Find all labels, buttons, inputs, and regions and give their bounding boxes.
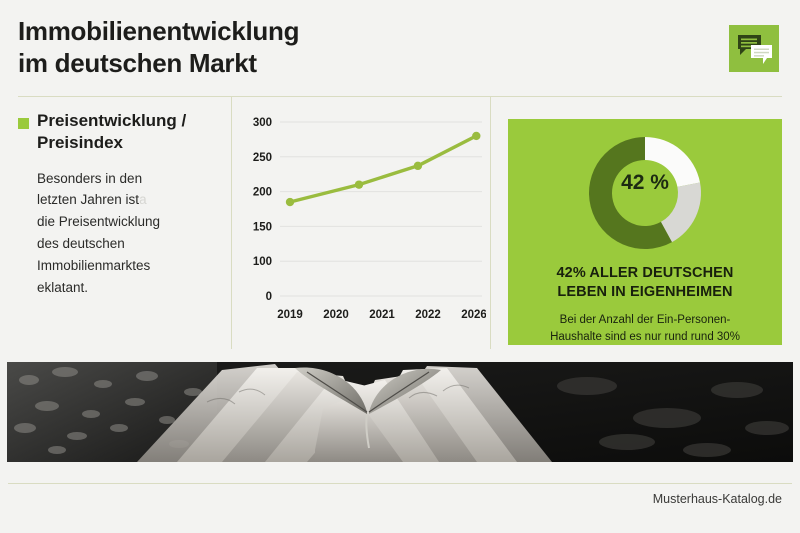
- chart-x-tick: 2020: [323, 309, 349, 321]
- section-heading-label: Preisentwicklung / Preisindex: [37, 110, 186, 154]
- chart-data-point[interactable]: [472, 132, 480, 140]
- footer-source: Musterhaus-Katalog.de: [653, 492, 782, 506]
- donut-chart-svg: [580, 129, 710, 257]
- body-text-part-1: Besonders in den letzten Jahren ist: [37, 171, 142, 208]
- donut-segment[interactable]: [645, 137, 700, 187]
- chart-y-tick: 200: [253, 187, 272, 199]
- photo-illustration: [7, 362, 793, 462]
- speech-bubbles-icon: [729, 25, 779, 72]
- logo[interactable]: [729, 25, 779, 72]
- panel-subtext: Bei der Anzahl der Ein-Personen- Haushal…: [522, 312, 768, 345]
- donut-segments: [589, 137, 701, 249]
- chart-y-tick-labels: 3002502001501000: [253, 117, 272, 303]
- statistic-panel: 42 % 42% ALLER DEUTSCHEN LEBEN IN EIGENH…: [508, 119, 782, 345]
- body-text-artifact: a: [139, 192, 147, 207]
- hands-soil-photo: [7, 362, 793, 462]
- chart-y-tick: 0: [266, 291, 272, 303]
- header: Immobilienentwicklung im deutschen Markt: [0, 0, 800, 96]
- section-body: Besonders in den letzten Jahren ista die…: [37, 168, 218, 299]
- line-chart-svg: 3002502001501000 20192020202120222026: [238, 108, 486, 338]
- chart-data-point[interactable]: [355, 180, 363, 188]
- green-square-bullet-icon: [18, 118, 29, 129]
- body-text-part-2: die Preisentwicklung des deutschen Immob…: [37, 214, 160, 295]
- donut-chart: [580, 129, 710, 262]
- chart-x-tick-labels: 20192020202120222026: [277, 309, 486, 321]
- column-divider-2: [490, 97, 491, 349]
- chart-y-tick: 300: [253, 117, 272, 129]
- chart-x-tick: 2019: [277, 309, 303, 321]
- chart-y-tick: 100: [253, 256, 272, 268]
- infographic-slide: Immobilienentwicklung im deutschen Markt…: [0, 0, 800, 533]
- chart-x-tick: 2026: [461, 309, 486, 321]
- page-title: Immobilienentwicklung im deutschen Markt: [18, 16, 299, 79]
- line-chart: 3002502001501000 20192020202120222026: [238, 108, 486, 338]
- section-heading: Preisentwicklung / Preisindex: [18, 110, 218, 154]
- chart-y-tick: 250: [253, 152, 272, 164]
- chart-x-tick: 2021: [369, 309, 395, 321]
- chart-x-tick: 2022: [415, 309, 441, 321]
- panel-headline: 42% ALLER DEUTSCHEN LEBEN IN EIGENHEIMEN: [520, 264, 770, 302]
- chart-data-point[interactable]: [414, 162, 422, 170]
- chart-data-point[interactable]: [286, 198, 294, 206]
- header-divider: [18, 96, 782, 97]
- left-column: Preisentwicklung / Preisindex Besonders …: [18, 110, 218, 299]
- footer-divider: [8, 483, 792, 484]
- chart-y-tick: 150: [253, 221, 272, 233]
- column-divider-1: [231, 97, 232, 349]
